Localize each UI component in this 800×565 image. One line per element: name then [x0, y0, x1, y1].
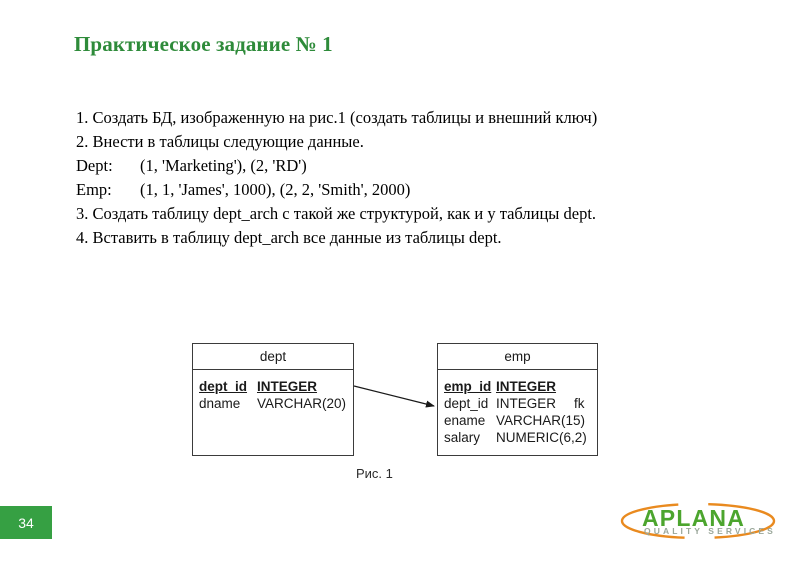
- dept-data-label: Dept:: [76, 154, 140, 178]
- er-field-type: INTEGER: [257, 378, 317, 395]
- er-field-name: emp_id: [444, 378, 496, 395]
- er-table-emp-title: emp: [438, 344, 597, 370]
- er-field-row: ename VARCHAR(15): [444, 412, 597, 429]
- er-field-name: dept_id: [199, 378, 257, 395]
- er-table-dept-title: dept: [193, 344, 353, 370]
- task-line-3: 3. Создать таблицу dept_arch с такой же …: [76, 202, 736, 226]
- er-field-type: VARCHAR(15): [496, 412, 574, 429]
- logo-tagline: QUALITY SERVICES: [644, 526, 776, 536]
- er-field-type: VARCHAR(20): [257, 395, 346, 412]
- dept-data-values: (1, 'Marketing'), (2, 'RD'): [140, 154, 307, 178]
- er-field-name: dept_id: [444, 395, 496, 412]
- er-field-type: INTEGER: [496, 395, 574, 412]
- er-diagram: dept dept_id INTEGER dname VARCHAR(20) e…: [0, 0, 800, 565]
- task-line-4: 4. Вставить в таблицу dept_arch все данн…: [76, 226, 736, 250]
- page-title: Практическое задание № 1: [74, 32, 333, 57]
- er-field-row: dname VARCHAR(20): [199, 395, 353, 412]
- er-table-emp: emp emp_id INTEGER dept_id INTEGER fk en…: [437, 343, 598, 456]
- er-field-name: ename: [444, 412, 496, 429]
- figure-caption: Рис. 1: [356, 466, 393, 481]
- er-field-row: salary NUMERIC(6,2): [444, 429, 597, 446]
- er-field-key: fk: [574, 395, 585, 412]
- page-number-badge: 34: [0, 506, 52, 539]
- aplana-logo: APLANA QUALITY SERVICES: [614, 499, 784, 545]
- er-field-row: dept_id INTEGER: [199, 378, 353, 395]
- er-table-dept: dept dept_id INTEGER dname VARCHAR(20): [192, 343, 354, 456]
- er-field-type: INTEGER: [496, 378, 574, 395]
- emp-data-row: Emp: (1, 1, 'James', 1000), (2, 2, 'Smit…: [76, 178, 736, 202]
- fk-relationship-arrow: [0, 0, 800, 565]
- emp-data-values: (1, 1, 'James', 1000), (2, 2, 'Smith', 2…: [140, 178, 410, 202]
- er-field-name: salary: [444, 429, 496, 446]
- task-line-1: 1. Создать БД, изображенную на рис.1 (со…: [76, 106, 736, 130]
- task-line-2: 2. Внести в таблицы следующие данные.: [76, 130, 736, 154]
- er-field-name: dname: [199, 395, 257, 412]
- dept-data-row: Dept: (1, 'Marketing'), (2, 'RD'): [76, 154, 736, 178]
- emp-data-label: Emp:: [76, 178, 140, 202]
- task-list: 1. Создать БД, изображенную на рис.1 (со…: [76, 106, 736, 250]
- er-table-emp-fields: emp_id INTEGER dept_id INTEGER fk ename …: [438, 370, 597, 446]
- er-table-dept-fields: dept_id INTEGER dname VARCHAR(20): [193, 370, 353, 412]
- er-field-row: emp_id INTEGER: [444, 378, 597, 395]
- er-field-row: dept_id INTEGER fk: [444, 395, 597, 412]
- er-field-type: NUMERIC(6,2): [496, 429, 574, 446]
